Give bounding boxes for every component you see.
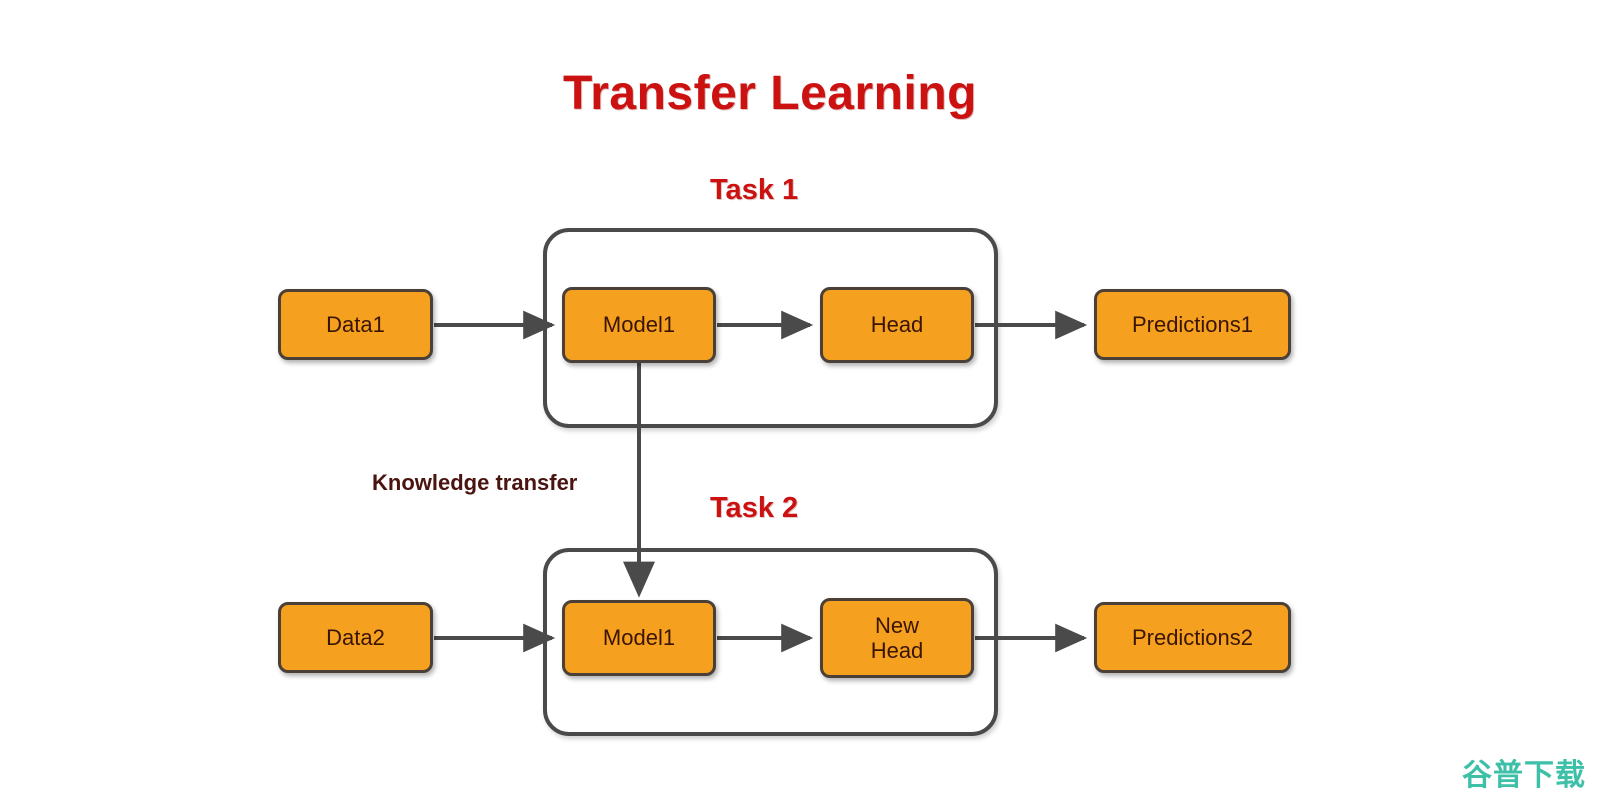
node-head[interactable]: Head [820,287,974,363]
node-model1-task1-label: Model1 [603,312,675,337]
node-data2[interactable]: Data2 [278,602,433,673]
node-model1-task2-label: Model1 [603,625,675,650]
node-data2-label: Data2 [326,625,385,650]
page-title: Transfer Learning [0,66,1540,121]
node-new-head-label-line2: Head [871,638,924,663]
node-model1-task1[interactable]: Model1 [562,287,716,363]
node-model1-task2[interactable]: Model1 [562,600,716,676]
knowledge-transfer-label: Knowledge transfer [372,470,577,496]
node-head-label: Head [871,312,924,337]
node-data1-label: Data1 [326,312,385,337]
node-predictions1[interactable]: Predictions1 [1094,289,1291,360]
task1-label: Task 1 [710,174,798,207]
diagram-canvas: Transfer Learning Task 1 Task 2 [0,0,1600,800]
node-new-head[interactable]: New Head [820,598,974,678]
task2-label: Task 2 [710,492,798,525]
node-predictions2[interactable]: Predictions2 [1094,602,1291,673]
watermark: 谷普下载 [1462,750,1586,794]
node-new-head-label-line1: New [871,613,924,638]
node-predictions1-label: Predictions1 [1132,312,1253,337]
node-predictions2-label: Predictions2 [1132,625,1253,650]
node-data1[interactable]: Data1 [278,289,433,360]
